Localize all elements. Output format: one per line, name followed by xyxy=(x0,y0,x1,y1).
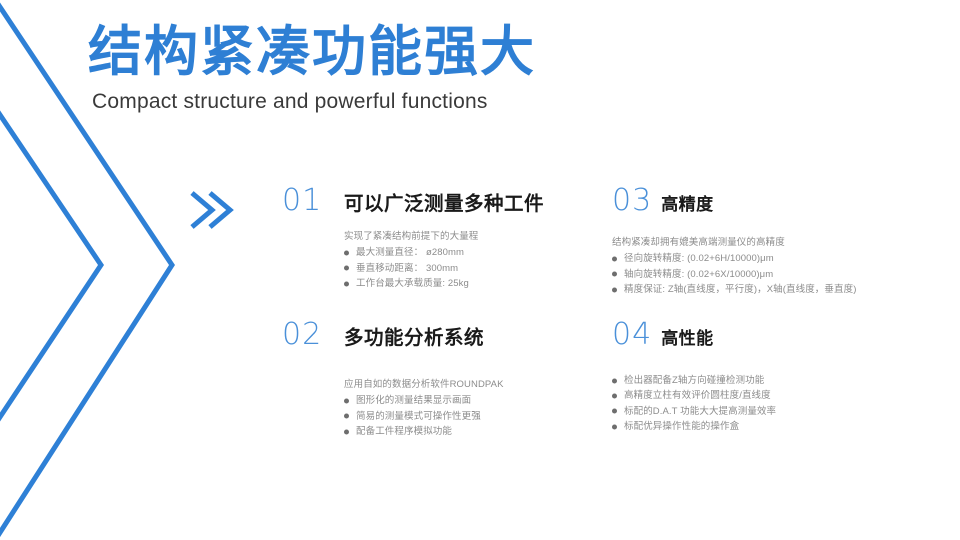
bullet-dot-icon xyxy=(612,424,617,429)
bullet-dot-icon xyxy=(612,257,617,262)
feature-spec-list: 图形化的测量结果显示画面 简易的测量模式可操作性更强 配备工件程序模拟功能 xyxy=(344,393,602,439)
list-item: 检出器配备Z轴方向碰撞检测功能 xyxy=(612,373,932,388)
list-item-label: 图形化的测量结果显示画面 xyxy=(356,395,471,406)
list-item: 简易的测量模式可操作性更强 xyxy=(344,409,602,424)
slide-header: 结构紧凑功能强大 Compact structure and powerful … xyxy=(88,22,708,114)
feature-title: 高精度 xyxy=(661,196,714,213)
bullet-dot-icon xyxy=(612,409,617,414)
bullet-dot-icon xyxy=(344,251,349,256)
list-item: 图形化的测量结果显示画面 xyxy=(344,393,602,408)
list-item: 径向旋转精度: (0.02+6H/10000)μm xyxy=(612,251,932,266)
feature-heading: 03 高精度 xyxy=(612,186,932,216)
list-item: 轴向旋转精度: (0.02+6X/10000)μm xyxy=(612,267,932,282)
list-item: 标配的D.A.T 功能大大提高测量效率 xyxy=(612,404,932,419)
feature-heading: 02 多功能分析系统 xyxy=(282,320,602,350)
feature-block-04: 04 高性能 检出器配备Z轴方向碰撞检测功能 高精度立柱有效评价圆柱度/直线度 … xyxy=(612,320,932,435)
feature-number: 01 xyxy=(282,186,344,216)
feature-block-03: 03 高精度 结构紧凑却拥有媲美高端测量仪的高精度 径向旋转精度: (0.02+… xyxy=(612,186,932,298)
page-subtitle: Compact structure and powerful functions xyxy=(92,90,708,114)
feature-number: 04 xyxy=(612,320,652,350)
list-item: 最大测量直径： ø280mm xyxy=(344,245,602,260)
feature-lead: 实现了紧凑结构前提下的大量程 xyxy=(344,229,602,244)
bullet-dot-icon xyxy=(344,266,349,271)
feature-block-02: 02 多功能分析系统 应用自如的数据分析软件ROUNDPAK 图形化的测量结果显… xyxy=(282,320,602,440)
feature-body: 应用自如的数据分析软件ROUNDPAK 图形化的测量结果显示画面 简易的测量模式… xyxy=(344,377,602,440)
feature-spec-list: 检出器配备Z轴方向碰撞检测功能 高精度立柱有效评价圆柱度/直线度 标配的D.A.… xyxy=(612,373,932,435)
feature-body: 检出器配备Z轴方向碰撞检测功能 高精度立柱有效评价圆柱度/直线度 标配的D.A.… xyxy=(612,373,932,435)
bullet-dot-icon xyxy=(612,394,617,399)
feature-lead: 结构紧凑却拥有媲美高端测量仪的高精度 xyxy=(612,235,932,250)
slide-canvas: 结构紧凑功能强大 Compact structure and powerful … xyxy=(0,0,960,540)
bullet-dot-icon xyxy=(344,281,349,286)
list-item-label: 垂直移动距离： 300mm xyxy=(356,263,458,274)
list-item: 工作台最大承载质量: 25kg xyxy=(344,276,602,291)
bullet-dot-icon xyxy=(344,399,349,404)
list-item-label: 工作台最大承载质量: 25kg xyxy=(356,278,469,289)
bullet-dot-icon xyxy=(612,378,617,383)
feature-block-01: 01 可以广泛测量多种工件 实现了紧凑结构前提下的大量程 最大测量直径： ø28… xyxy=(282,186,602,292)
features-grid: 01 可以广泛测量多种工件 实现了紧凑结构前提下的大量程 最大测量直径： ø28… xyxy=(282,186,942,486)
list-item: 标配优异操作性能的操作盒 xyxy=(612,419,932,434)
feature-number: 03 xyxy=(612,186,652,216)
list-item-label: 径向旋转精度: (0.02+6H/10000)μm xyxy=(624,253,774,264)
inner-chevron-icon xyxy=(0,100,101,432)
feature-lead: 应用自如的数据分析软件ROUNDPAK xyxy=(344,377,602,392)
bullet-dot-icon xyxy=(612,272,617,277)
feature-number: 02 xyxy=(282,320,344,350)
feature-spec-list: 径向旋转精度: (0.02+6H/10000)μm 轴向旋转精度: (0.02+… xyxy=(612,251,932,297)
list-item-label: 标配的D.A.T 功能大大提高测量效率 xyxy=(624,406,776,417)
page-title: 结构紧凑功能强大 xyxy=(88,22,708,82)
list-item-label: 配备工件程序模拟功能 xyxy=(356,426,452,437)
bullet-dot-icon xyxy=(344,414,349,419)
bullet-dot-icon xyxy=(344,429,349,434)
list-item-label: 轴向旋转精度: (0.02+6X/10000)μm xyxy=(624,269,773,280)
bullet-dot-icon xyxy=(612,287,617,292)
list-item-label: 精度保证: Z轴(直线度，平行度)，X轴(直线度，垂直度) xyxy=(624,284,856,295)
list-item-label: 简易的测量模式可操作性更强 xyxy=(356,411,481,422)
list-item: 垂直移动距离： 300mm xyxy=(344,261,602,276)
list-item-label: 标配优异操作性能的操作盒 xyxy=(624,421,739,432)
list-item: 配备工件程序模拟功能 xyxy=(344,424,602,439)
feature-spec-list: 最大测量直径： ø280mm 垂直移动距离： 300mm 工作台最大承载质量: … xyxy=(344,245,602,291)
feature-title: 高性能 xyxy=(661,330,714,347)
list-item-label: 高精度立柱有效评价圆柱度/直线度 xyxy=(624,390,771,401)
feature-body: 结构紧凑却拥有媲美高端测量仪的高精度 径向旋转精度: (0.02+6H/1000… xyxy=(612,235,932,298)
list-item-label: 检出器配备Z轴方向碰撞检测功能 xyxy=(624,375,764,386)
feature-heading: 01 可以广泛测量多种工件 xyxy=(282,186,602,216)
feature-title: 多功能分析系统 xyxy=(344,329,484,349)
list-item-label: 最大测量直径： ø280mm xyxy=(356,247,464,258)
list-item: 高精度立柱有效评价圆柱度/直线度 xyxy=(612,388,932,403)
list-item: 精度保证: Z轴(直线度，平行度)，X轴(直线度，垂直度) xyxy=(612,282,932,297)
feature-title: 可以广泛测量多种工件 xyxy=(344,195,544,215)
feature-heading: 04 高性能 xyxy=(612,320,932,350)
double-chevron-right-icon xyxy=(186,186,238,234)
feature-body: 实现了紧凑结构前提下的大量程 最大测量直径： ø280mm 垂直移动距离： 30… xyxy=(344,229,602,292)
